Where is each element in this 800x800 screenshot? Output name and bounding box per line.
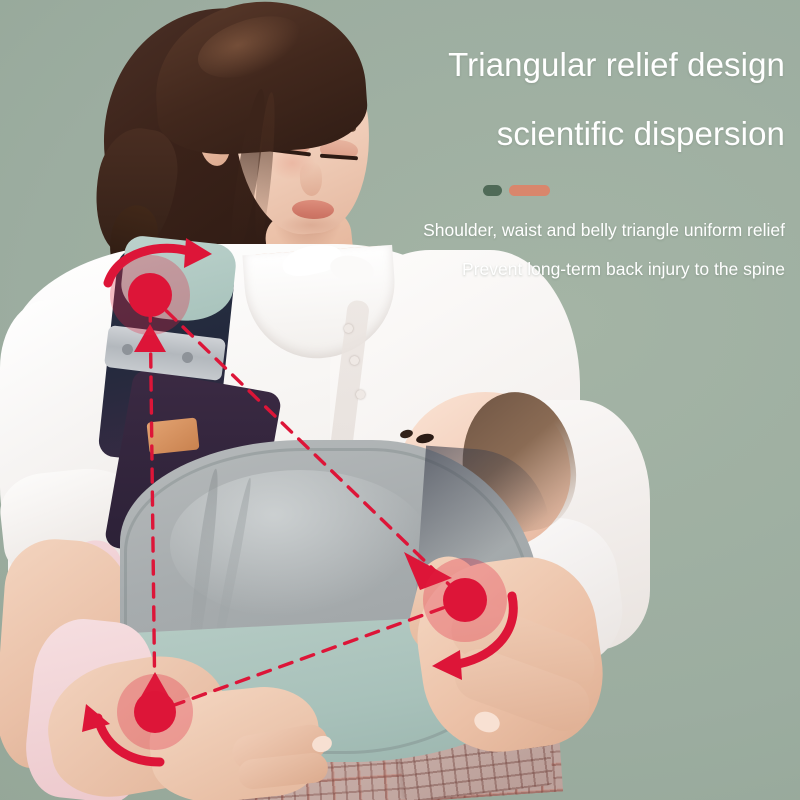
headline-line-1: Triangular relief design bbox=[365, 48, 785, 83]
edge-shoulder-to-waist bbox=[150, 295, 465, 600]
edge-belly-to-shoulder bbox=[150, 295, 155, 712]
headline-line-2: scientific dispersion bbox=[365, 117, 785, 152]
divider-pill-large bbox=[509, 185, 550, 196]
waist-node[interactable] bbox=[443, 578, 487, 622]
shoulder-node[interactable] bbox=[128, 273, 172, 317]
edge-waist-to-belly bbox=[155, 600, 465, 712]
triangle-edges bbox=[150, 295, 465, 712]
belly-node[interactable] bbox=[134, 691, 176, 733]
marketing-copy: Triangular relief design scientific disp… bbox=[365, 48, 785, 278]
divider-pill-small bbox=[483, 185, 502, 196]
product-marketing-banner: Triangular relief design scientific disp… bbox=[0, 0, 800, 800]
subtitle-line-1: Shoulder, waist and belly triangle unifo… bbox=[365, 222, 785, 240]
decorative-divider bbox=[365, 185, 785, 196]
subtitle-line-2: Prevent long-term back injury to the spi… bbox=[365, 261, 785, 279]
